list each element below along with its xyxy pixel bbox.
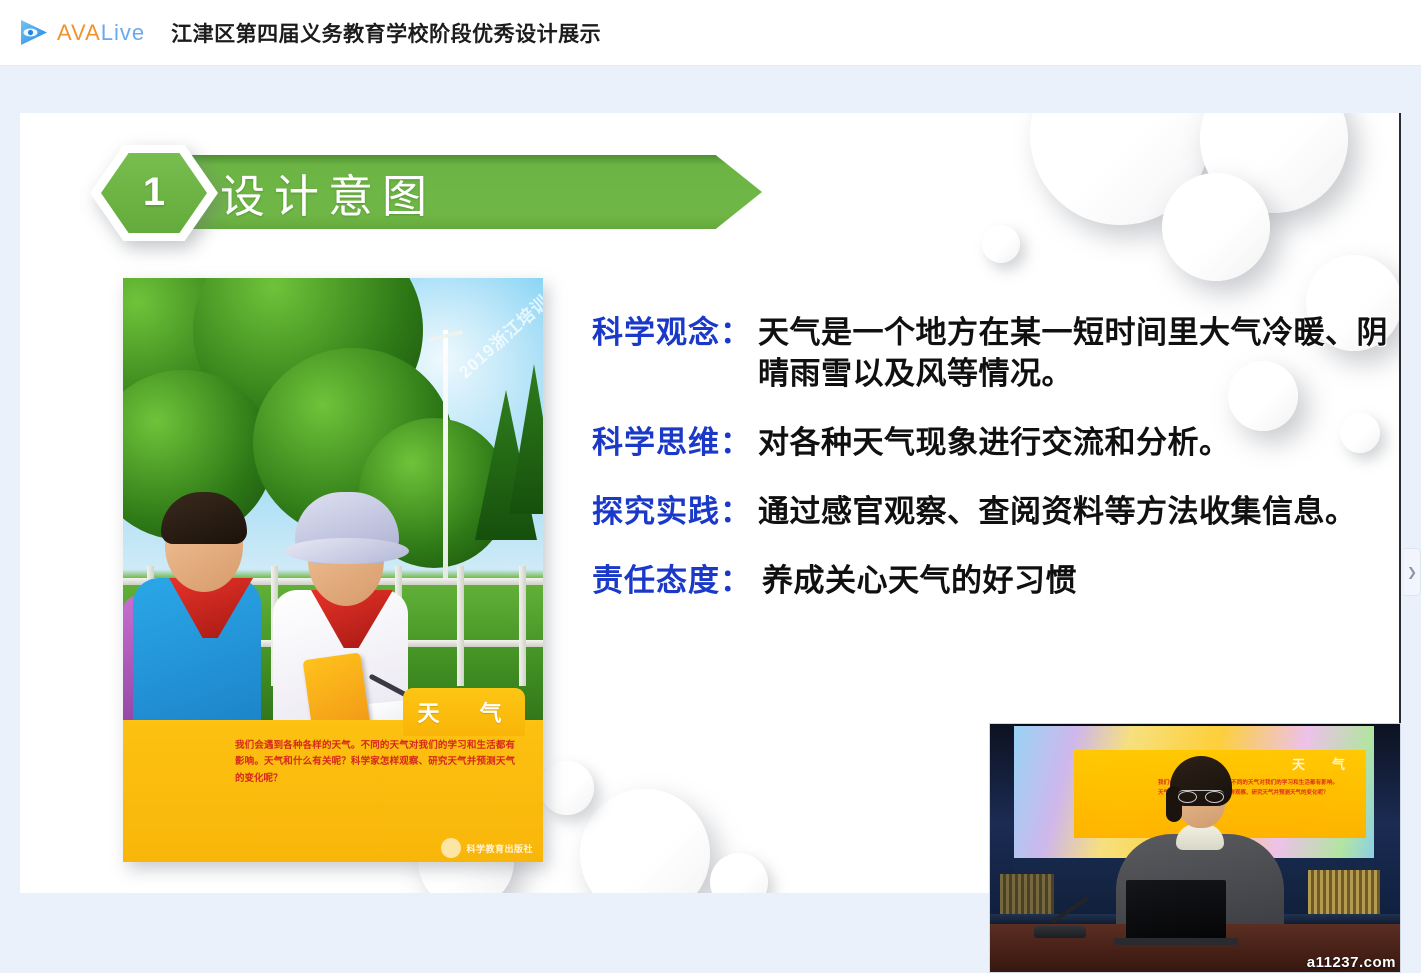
presenter-glasses — [1178, 790, 1224, 800]
cover-photo: 2019浙江培训 — [123, 278, 543, 748]
objective-text: 对各种天气现象进行交流和分析。 — [758, 423, 1231, 464]
presenter-laptop — [1126, 880, 1226, 940]
objective-label: 科学思维： — [592, 423, 752, 464]
textbook-cover-image: 2019浙江培训 天 气 我们会遇到各种各样的天气。不同的天气对我们的学习和生活… — [123, 278, 543, 862]
objective-text: 通过感官观察、查阅资料等方法收集信息。 — [758, 492, 1357, 533]
collapse-panel-toggle: ❯ — [1407, 565, 1417, 579]
brand-ava-text: AVA — [57, 20, 101, 45]
section-banner: 设计意图 1 — [44, 133, 784, 251]
presenter-video[interactable]: 天 气 我们会遇到各种各样的天气。不同的天气对我们的学习和生活都有影响。天气和什… — [989, 723, 1401, 973]
objective-text: 天气是一个地方在某一短时间里大气冷暖、阴晴雨雪以及风等情况。 — [758, 313, 1392, 395]
presenter-laptop-base — [1114, 938, 1238, 945]
objective-row: 科学观念： 天气是一个地方在某一短时间里大气冷暖、阴晴雨雪以及风等情况。 — [592, 313, 1392, 395]
section-number: 1 — [143, 172, 165, 215]
brand-wordmark: AVALive — [57, 20, 145, 46]
objective-row: 科学思维： 对各种天气现象进行交流和分析。 — [592, 423, 1392, 464]
objectives-list: 科学观念： 天气是一个地方在某一短时间里大气冷暖、阴晴雨雪以及风等情况。 科学思… — [592, 313, 1392, 630]
projected-subject-title: 天 气 — [1292, 754, 1352, 773]
presentation-stage: 设计意图 1 — [0, 66, 1421, 907]
cover-paragraph: 我们会遇到各种各样的天气。不同的天气对我们的学习和生活都有影响。天气和什么有关呢… — [235, 738, 515, 787]
publisher-name: 科学教育出版社 — [466, 842, 533, 855]
objective-row: 责任态度： 养成关心天气的好习惯 — [592, 561, 1392, 602]
objective-label: 责任态度： — [592, 561, 752, 602]
page-title: 江津区第四届义务教育学校阶段优秀设计展示 — [171, 18, 601, 48]
section-title: 设计意图 — [220, 159, 760, 225]
objective-label: 科学观念： — [592, 313, 752, 395]
microphone-base — [1034, 926, 1086, 938]
section-number-badge: 1 — [90, 145, 218, 241]
video-watermark: a11237.com — [1307, 954, 1396, 971]
cover-publisher: 科学教育出版社 — [441, 838, 533, 858]
publisher-logo-icon — [441, 838, 461, 858]
play-triangle-icon — [16, 16, 50, 50]
objective-text: 养成关心天气的好习惯 — [762, 561, 1077, 602]
brand-live-text: Live — [101, 20, 145, 45]
objective-label: 探究实践： — [592, 492, 752, 533]
chevron-right-icon[interactable]: ❯ — [1404, 548, 1421, 596]
brand-logo[interactable]: AVALive — [16, 16, 145, 50]
app-header: AVALive 江津区第四届义务教育学校阶段优秀设计展示 — [0, 0, 1421, 66]
objective-row: 探究实践： 通过感官观察、查阅资料等方法收集信息。 — [592, 492, 1392, 533]
cover-subject-title: 天 气 — [403, 688, 525, 736]
cover-yellow-panel: 天 气 我们会遇到各种各样的天气。不同的天气对我们的学习和生活都有影响。天气和什… — [123, 720, 543, 862]
